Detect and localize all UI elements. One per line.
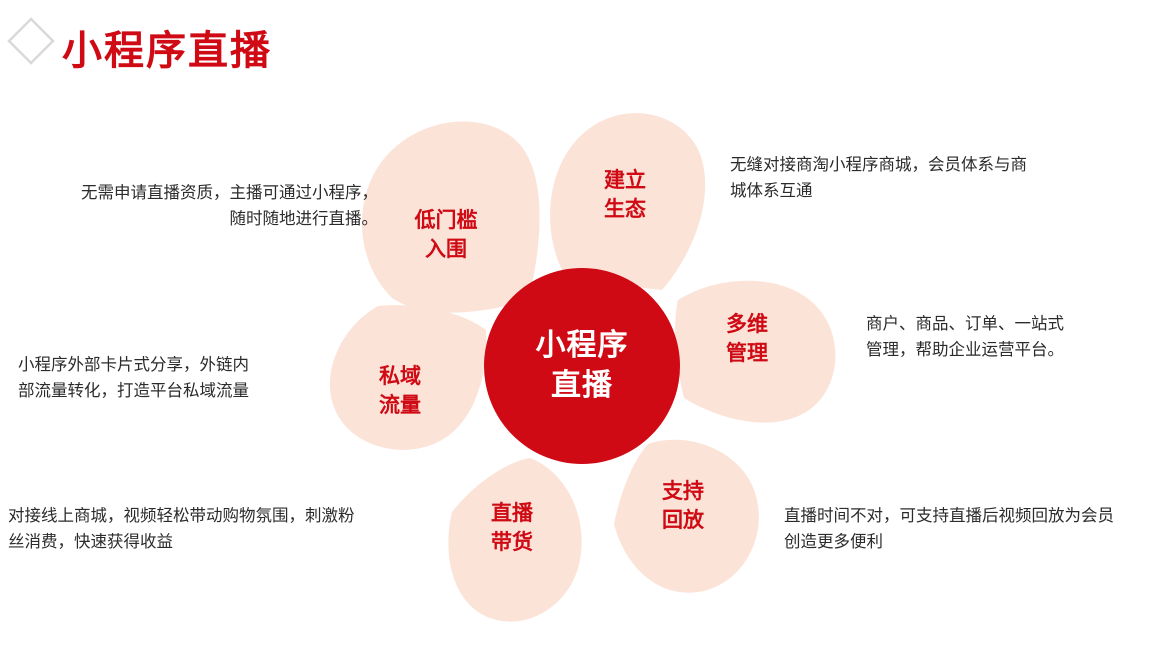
description-live-commerce: 对接线上商城，视频轻松带动购物氛围，刺激粉 丝消费，快速获得收益 [8, 503, 438, 555]
description-low-threshold: 无需申请直播资质，主播可通过小程序， 随时随地进行直播。 [18, 180, 378, 232]
petal-shape-private-traffic[interactable] [330, 305, 486, 450]
petal-shape-multi-dimension-management[interactable] [675, 281, 835, 423]
center-label: 小程序 直播 [484, 268, 680, 464]
description-build-ecosystem: 无缝对接商淘小程序商城，会员体系与商 城体系互通 [730, 152, 1150, 204]
petal-diagram: 低门槛 入围 建立 生态 多维 管理 支持 回放 直播 带货 私域 流量 小程序… [0, 0, 1162, 647]
petal-shape-live-commerce[interactable] [448, 458, 581, 622]
description-private-traffic: 小程序外部卡片式分享，外链内 部流量转化，打造平台私域流量 [18, 352, 338, 404]
petal-shape-build-ecosystem[interactable] [550, 113, 705, 290]
description-support-playback: 直播时间不对，可支持直播后视频回放为会员 创造更多便利 [784, 503, 1154, 555]
description-multi-dimension-management: 商户、商品、订单、一站式 管理，帮助企业运营平台。 [866, 311, 1156, 363]
